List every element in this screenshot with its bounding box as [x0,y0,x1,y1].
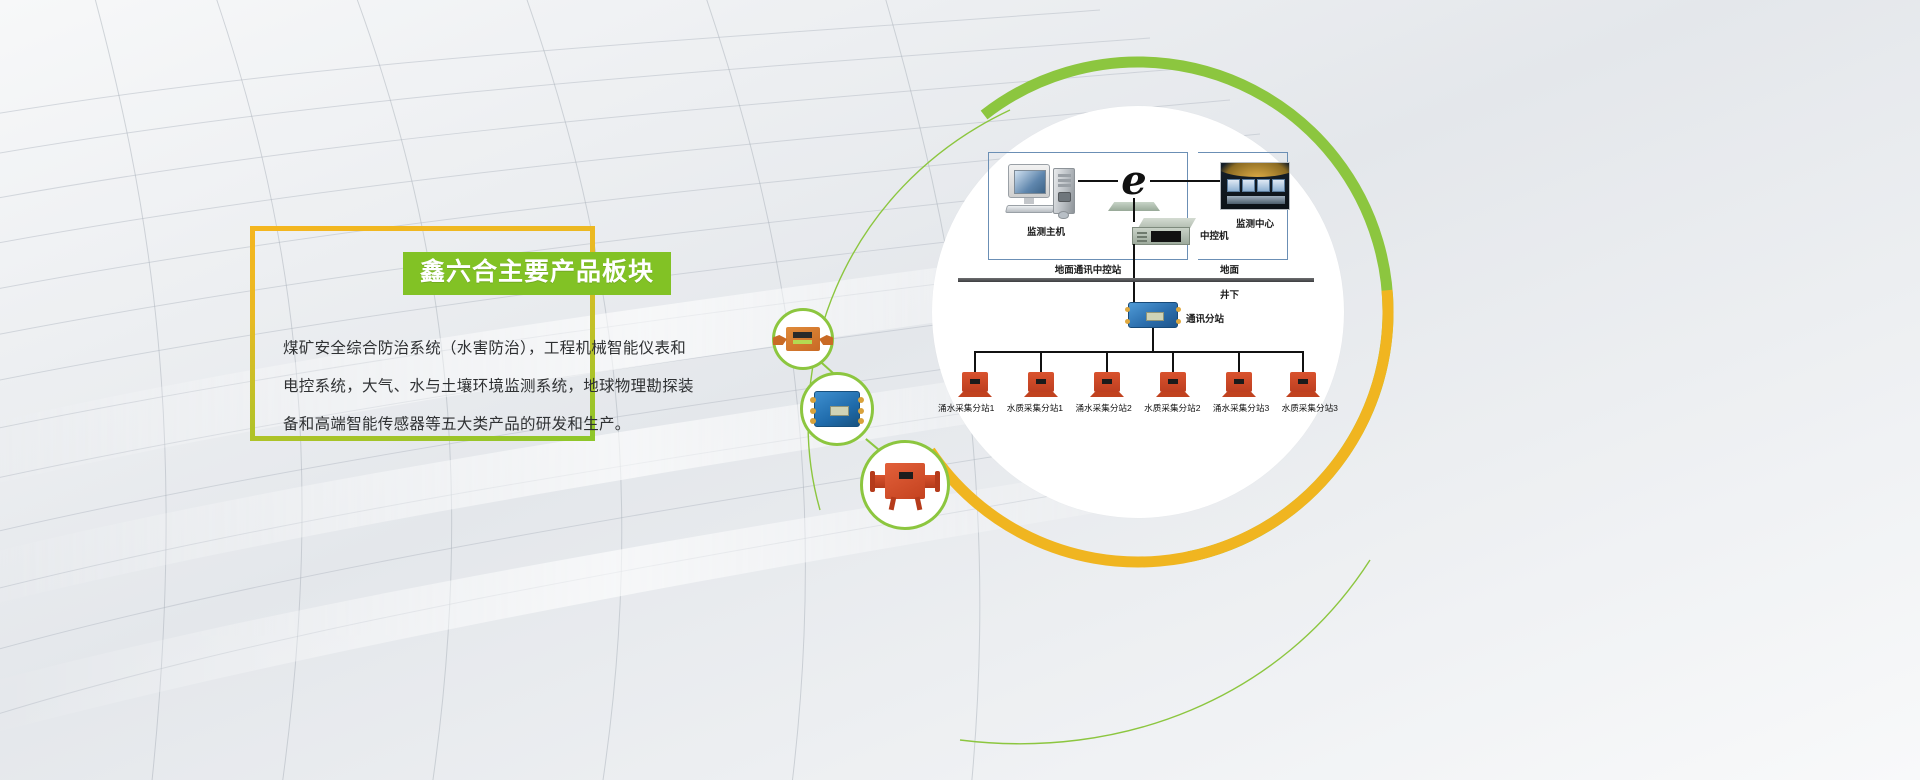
pc-drive-bay [1058,192,1071,202]
device-bracket-left [773,335,787,345]
label-central-control: 中控机 [1200,228,1229,242]
substation-label-4: 水质采集分站2 [1144,402,1200,414]
substation-foot-4 [1156,392,1190,397]
substation-icon-6 [1290,372,1316,392]
orange-instrument-device-icon [786,327,820,351]
system-architecture-diagram: 监测主机 e 监测中心 中控机 [932,106,1344,518]
substation-icon-2 [1028,372,1054,392]
page-title: 鑫六合主要产品板块 [403,252,671,295]
diagram-ring-composition: 监测主机 e 监测中心 中控机 [760,40,1920,780]
device-bracket-right [819,335,833,345]
label-comm-substation: 通讯分站 [1186,311,1224,325]
server-front-face [1132,227,1190,245]
wire-drop-2 [1040,351,1042,373]
substation-label-row: 涌水采集分站1 水质采集分站1 涌水采集分站2 水质采集分站2 涌水采集分站3 … [938,402,1338,414]
substation-icon-4 [1160,372,1186,392]
wire-horizontal-bus [974,351,1304,353]
monitoring-host-icon [1006,162,1080,220]
outlet-flange [935,471,940,492]
keyboard-icon [1005,205,1055,213]
wire-substation-down [1152,328,1154,352]
wire-drop-3 [1106,351,1108,373]
product-bubble-junction-box[interactable] [800,372,874,446]
label-monitoring-center: 监测中心 [1220,216,1290,230]
thin-green-swoosh-bottom [960,560,1370,744]
substation-icon-3 [1094,372,1120,392]
monitoring-center-photo [1220,162,1290,210]
panel-description: 煤矿安全综合防治系统（水害防治），工程机械智能仪表和 电控系统，大气、水与土壤环… [283,330,713,444]
flow-device-body [885,463,925,499]
description-line-3: 备和高端智能传感器等五大类产品的研发和生产。 [283,406,713,444]
mouse-icon [1058,211,1069,219]
comm-substation-icon [1128,302,1178,328]
substation-foot-3 [1090,392,1124,397]
wire-internet-to-server [1133,198,1135,222]
banner-stage: 鑫六合主要产品板块 煤矿安全综合防治系统（水害防治），工程机械智能仪表和 电控系… [0,0,1920,780]
label-ground-comm-station: 地面通讯中控站 [988,262,1188,276]
monitor-icon [1008,164,1050,198]
video-wall-screens [1227,179,1285,192]
substation-foot-5 [1222,392,1256,397]
product-bubble-instrument[interactable] [772,308,834,370]
blue-junction-box-device-icon [814,391,860,427]
substation-label-3: 涌水采集分站2 [1075,402,1131,414]
wire-host-to-internet [1078,180,1118,182]
surface-underground-divider [958,278,1314,282]
central-control-server-icon [1132,218,1196,248]
label-monitoring-host: 监测主机 [1006,224,1086,238]
wire-internet-to-center [1150,180,1220,182]
substation-label-2: 水质采集分站1 [1007,402,1063,414]
product-bubble-flow-device[interactable] [860,440,950,530]
substation-label-5: 涌水采集分站3 [1213,402,1269,414]
pc-tower-icon [1053,168,1075,214]
wire-drop-6 [1302,351,1304,373]
label-surface: 地面 [1220,262,1239,276]
monitor-screen [1014,170,1046,194]
description-line-1: 煤矿安全综合防治系统（水害防治），工程机械智能仪表和 [283,330,713,368]
substation-icon-1 [962,372,988,392]
substation-label-1: 涌水采集分站1 [938,402,994,414]
device-leg-left [889,497,897,511]
internet-e-icon: e [1115,162,1153,202]
server-indicator-leds [1137,232,1147,234]
monitor-stand [1024,198,1034,204]
substation-foot-6 [1286,392,1320,397]
substation-label-6: 水质采集分站3 [1282,402,1338,414]
control-desk [1227,196,1285,204]
red-inline-flow-device-icon [870,459,940,511]
label-underground: 井下 [1220,287,1239,301]
substation-icon-5 [1226,372,1252,392]
ceiling-light-arc [1220,162,1290,177]
substation-foot-1 [958,392,992,397]
wire-drop-5 [1238,351,1240,373]
wire-drop-4 [1172,351,1174,373]
wire-drop-1 [974,351,976,373]
description-line-2: 电控系统，大气、水与土壤环境监测系统，地球物理勘探装 [283,368,713,406]
inlet-flange [870,471,875,492]
substation-foot-2 [1024,392,1058,397]
